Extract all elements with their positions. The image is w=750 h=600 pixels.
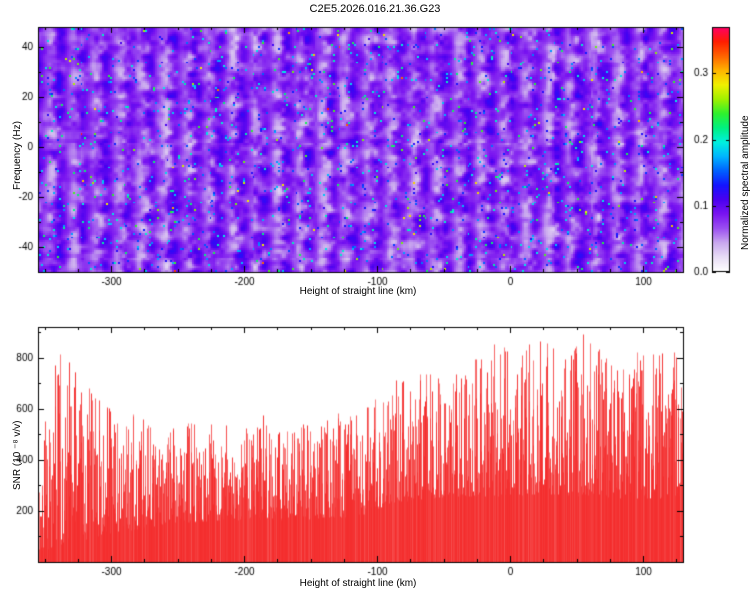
figure-canvas	[0, 0, 750, 600]
